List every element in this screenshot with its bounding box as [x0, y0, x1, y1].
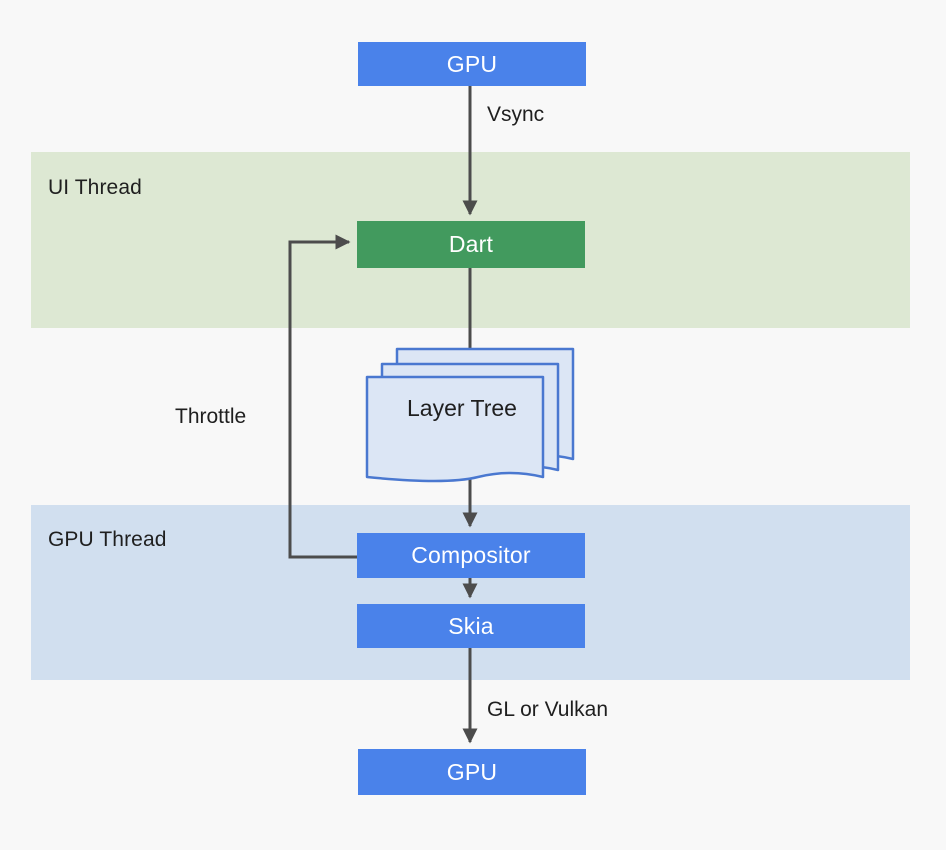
diagram-canvas: UI Thread GPU Thread	[0, 0, 946, 850]
node-dart-label: Dart	[449, 231, 493, 258]
edge-label-vsync: Vsync	[487, 103, 544, 127]
node-skia-label: Skia	[448, 613, 494, 640]
node-gpu-top[interactable]: GPU	[358, 42, 586, 86]
edge-label-throttle: Throttle	[175, 405, 246, 429]
node-layer-tree[interactable]: Layer Tree	[362, 343, 582, 491]
node-gpu-bottom-label: GPU	[447, 759, 497, 786]
swimlane-label-ui-thread: UI Thread	[48, 176, 142, 200]
node-dart[interactable]: Dart	[357, 221, 585, 268]
swimlane-label-gpu-thread: GPU Thread	[48, 528, 167, 552]
node-compositor-label: Compositor	[411, 542, 531, 569]
node-gpu-top-label: GPU	[447, 51, 497, 78]
edge-label-gl-or-vulkan: GL or Vulkan	[487, 698, 608, 722]
node-skia[interactable]: Skia	[357, 604, 585, 648]
layer-sheet-front	[367, 377, 543, 481]
swimlane-gpu-thread: GPU Thread	[31, 505, 910, 680]
node-layer-tree-label: Layer Tree	[374, 395, 550, 422]
node-compositor[interactable]: Compositor	[357, 533, 585, 578]
node-gpu-bottom[interactable]: GPU	[358, 749, 586, 795]
